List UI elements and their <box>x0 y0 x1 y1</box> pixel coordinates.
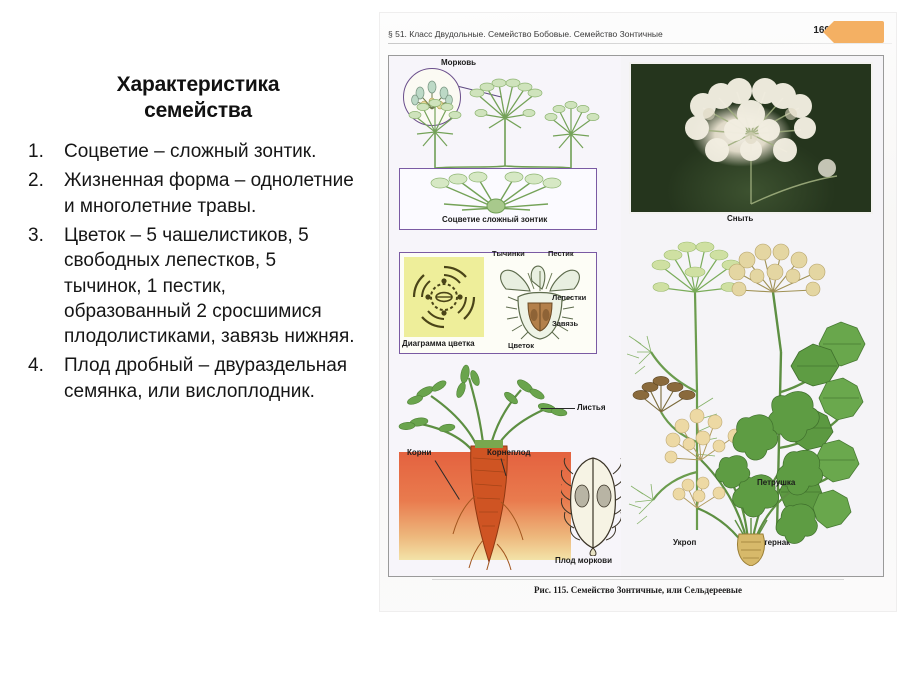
textbook-page-scan: лёные. Семейство Бобовые зонтичные расте… <box>380 13 896 611</box>
goutweed-photo <box>629 62 873 214</box>
slide-root: Характеристика семейства 1. Соцветие – с… <box>0 0 910 683</box>
label-petals: Лепестки <box>552 293 586 302</box>
figure-caption: Рис. 115. Семейство Зонтичные, или Сельд… <box>380 585 896 595</box>
characteristics-panel: Характеристика семейства 1. Соцветие – с… <box>28 72 358 408</box>
label-flower: Цветок <box>508 341 534 350</box>
flower-structure-box: Диаграмма цветка <box>399 252 597 354</box>
label-goutweed: Сныть <box>727 214 753 223</box>
list-item-text: Цветок – 5 чашелистиков, 5 свободных леп… <box>64 225 355 347</box>
title-line-1: Характеристика <box>38 72 358 98</box>
section-header-text: § 51. Класс Двудольные. Семейство Бобовы… <box>388 29 663 39</box>
list-item-text: Жизненная форма – однолетние и многолетн… <box>64 170 354 216</box>
page-title: Характеристика семейства <box>28 72 358 123</box>
page-header: § 51. Класс Двудольные. Семейство Бобовы… <box>388 29 892 45</box>
figure-115: Морковь <box>388 55 884 577</box>
flower-diagram-panel <box>404 257 484 337</box>
goutweed-photo-render <box>631 64 871 212</box>
label-pistil: Пестик <box>548 249 574 258</box>
label-leaves: Листья <box>577 403 605 412</box>
label-carrot-fruit: Плод моркови <box>555 556 612 565</box>
label-ovary: Завязь <box>552 319 578 328</box>
list-item-text: Соцветие – сложный зонтик. <box>64 141 316 162</box>
list-item-text: Плод дробный – двураздельная семянка, ил… <box>64 355 347 401</box>
label-stamens: Тычинки <box>492 249 525 258</box>
label-roots: Корни <box>407 448 431 457</box>
label-root-crop: Корнеплод <box>487 448 531 457</box>
page-tab-marker <box>834 21 884 43</box>
caption-rule <box>432 579 844 580</box>
parsley-drawing <box>657 356 837 566</box>
carrot-root-drawing <box>431 440 551 570</box>
compound-umbel-drawing <box>400 170 593 214</box>
compound-umbel-box: Соцветие сложный зонтик <box>399 168 597 230</box>
list-item-number: 4. <box>28 353 54 378</box>
list-item: 2. Жизненная форма – однолетние и многол… <box>28 168 358 219</box>
list-item: 3. Цветок – 5 чашелистиков, 5 свободных … <box>28 223 358 349</box>
list-item: 1. Соцветие – сложный зонтик. <box>28 139 358 164</box>
characteristics-list: 1. Соцветие – сложный зонтик. 2. Жизненн… <box>28 139 358 404</box>
carrot-fruit-drawing <box>561 452 625 556</box>
label-parsley: Петрушка <box>757 478 795 487</box>
list-item: 4. Плод дробный – двураздельная семянка,… <box>28 353 358 404</box>
label-flower-diagram: Диаграмма цветка <box>402 339 475 348</box>
list-item-number: 1. <box>28 139 54 164</box>
list-item-number: 2. <box>28 168 54 193</box>
title-line-2: семейства <box>38 98 358 124</box>
carrot-umbels-drawing <box>389 62 621 174</box>
flower-diagram-drawing <box>404 257 484 337</box>
list-item-number: 3. <box>28 223 54 248</box>
leaves-leader-line <box>541 408 575 409</box>
umbellifer-species-column: Сныть <box>621 56 883 576</box>
header-rule <box>388 43 892 44</box>
carrot-illustration-column: Морковь <box>389 56 621 576</box>
label-compound-umbel: Соцветие сложный зонтик <box>442 215 547 224</box>
